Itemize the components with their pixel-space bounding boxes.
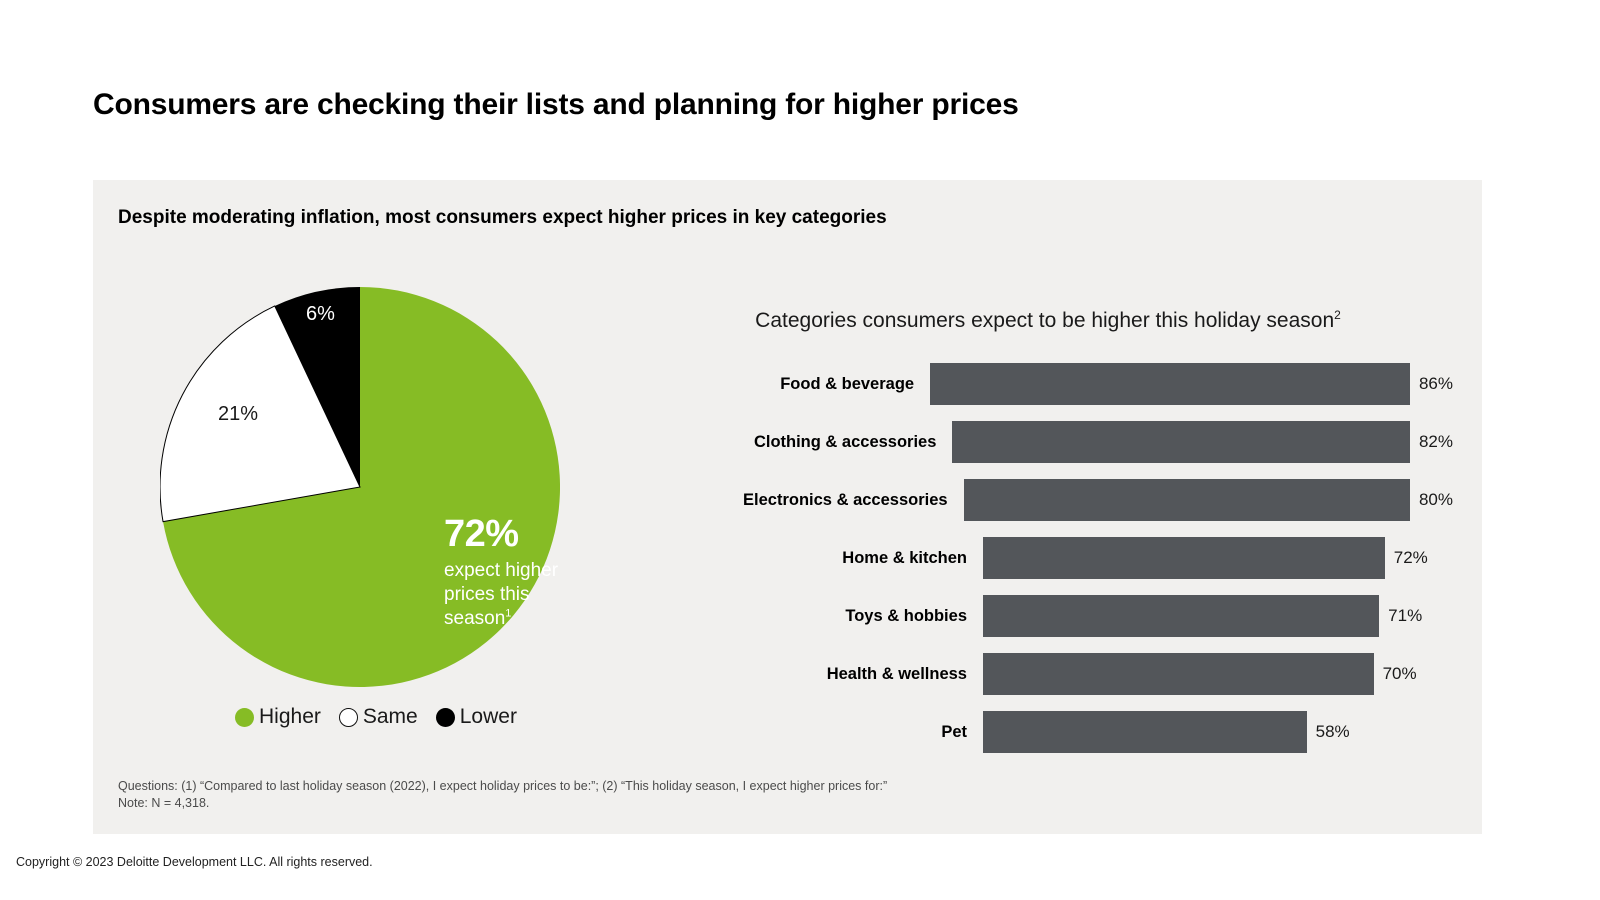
bar-value-label: 86% [1419, 374, 1453, 394]
slide-root: Consumers are checking their lists and p… [0, 0, 1600, 900]
bar-chart-title: Categories consumers expect to be higher… [653, 308, 1443, 333]
bar-category-label: Electronics & accessories [653, 491, 964, 510]
bar-track: 72% [983, 529, 1453, 587]
bar-row: Health & wellness70% [653, 645, 1453, 703]
legend-swatch-black-icon [436, 708, 455, 727]
bar-fill [930, 363, 1410, 405]
bar-chart: Categories consumers expect to be higher… [653, 290, 1453, 770]
bar-fill [983, 595, 1379, 637]
bar-fill [983, 711, 1307, 753]
bar-value-label: 58% [1316, 722, 1350, 742]
bar-row: Toys & hobbies71% [653, 587, 1453, 645]
bar-category-label: Health & wellness [653, 665, 983, 684]
bar-fill [952, 421, 1410, 463]
bar-row: Electronics & accessories80% [653, 471, 1453, 529]
bar-category-label: Clothing & accessories [653, 433, 952, 452]
bar-fill [964, 479, 1410, 521]
legend-label-higher: Higher [259, 705, 321, 729]
bar-value-label: 70% [1383, 664, 1417, 684]
pie-label-lower: 6% [306, 303, 335, 326]
legend-item-lower[interactable]: Lower [436, 705, 517, 729]
bar-category-label: Pet [653, 723, 983, 742]
bar-value-label: 82% [1419, 432, 1453, 452]
bar-chart-title-text: Categories consumers expect to be higher… [755, 309, 1334, 332]
legend-swatch-green-icon [235, 708, 254, 727]
pie-chart-svg [160, 287, 560, 687]
pie-legend: Higher Same Lower [235, 705, 517, 729]
bar-value-label: 72% [1394, 548, 1428, 568]
legend-item-same[interactable]: Same [339, 705, 418, 729]
bar-category-label: Food & beverage [653, 375, 930, 394]
bar-chart-title-superscript: 2 [1334, 308, 1341, 322]
bar-category-label: Toys & hobbies [653, 607, 983, 626]
bar-track: 86% [930, 355, 1453, 413]
bar-value-label: 80% [1419, 490, 1453, 510]
bar-row: Pet58% [653, 703, 1453, 761]
bar-chart-rows: Food & beverage86%Clothing & accessories… [653, 355, 1453, 761]
page-title: Consumers are checking their lists and p… [93, 88, 1019, 122]
panel-subtitle: Despite moderating inflation, most consu… [118, 207, 887, 229]
pie-chart: 6% 21% 72% expect higherprices thisseaso… [160, 287, 560, 687]
bar-value-label: 71% [1388, 606, 1422, 626]
legend-item-higher[interactable]: Higher [235, 705, 321, 729]
bar-track: 71% [983, 587, 1453, 645]
footnotes: Questions: (1) “Compared to last holiday… [118, 778, 887, 812]
bar-track: 58% [983, 703, 1453, 761]
bar-track: 80% [964, 471, 1453, 529]
bar-track: 70% [983, 645, 1453, 703]
footnote-questions: Questions: (1) “Compared to last holiday… [118, 778, 887, 795]
bar-row: Home & kitchen72% [653, 529, 1453, 587]
legend-label-lower: Lower [460, 705, 517, 729]
content-panel: Despite moderating inflation, most consu… [93, 180, 1482, 834]
legend-swatch-white-icon [339, 708, 358, 727]
footnote-note: Note: N = 4,318. [118, 795, 887, 812]
copyright-text: Copyright © 2023 Deloitte Development LL… [16, 855, 373, 869]
legend-label-same: Same [363, 705, 418, 729]
bar-track: 82% [952, 413, 1453, 471]
pie-label-same: 21% [218, 403, 258, 426]
bar-fill [983, 537, 1385, 579]
bar-row: Food & beverage86% [653, 355, 1453, 413]
bar-fill [983, 653, 1374, 695]
bar-category-label: Home & kitchen [653, 549, 983, 568]
bar-row: Clothing & accessories82% [653, 413, 1453, 471]
